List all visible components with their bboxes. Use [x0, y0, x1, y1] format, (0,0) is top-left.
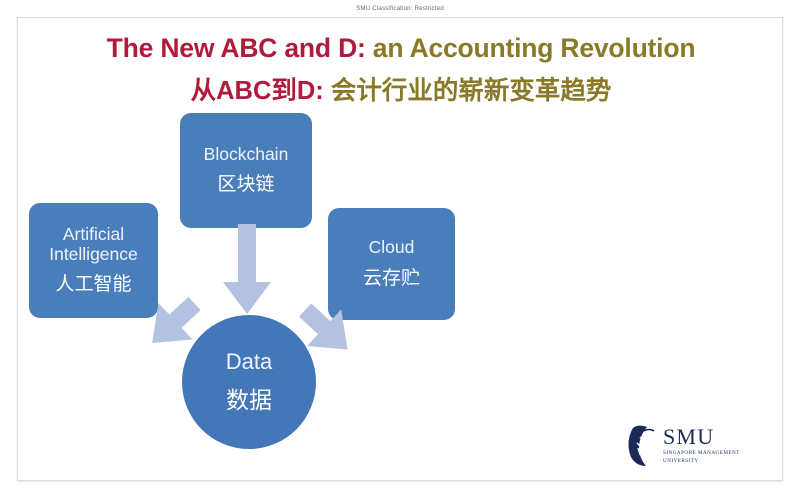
arrow-ai-to-data-icon	[142, 293, 206, 355]
node-cloud-label-en: Cloud	[369, 237, 415, 257]
node-data-label-en: Data	[226, 350, 272, 374]
classification-banner: SMU Classification: Restricted	[0, 0, 800, 16]
node-blockchain-label-en: Blockchain	[204, 144, 289, 164]
slide-title-chinese: 从ABC到D: 会计行业的崭新变革趋势	[18, 70, 783, 107]
slide-title-chinese-red: 从ABC到D:	[191, 77, 324, 105]
slide-frame: The New ABC and D: an Accounting Revolut…	[17, 17, 783, 481]
diagram-node-artificial-intelligence: Artificial Intelligence 人工智能	[29, 203, 158, 318]
smu-initials: SMU	[663, 426, 749, 448]
node-ai-label-zh: 人工智能	[55, 274, 131, 297]
arrow-blockchain-to-data-icon	[219, 224, 275, 319]
node-data-label-zh: 数据	[226, 388, 272, 413]
diagram-node-blockchain: Blockchain 区块链	[180, 113, 312, 228]
node-ai-label-en-line2: Intelligence	[49, 244, 138, 264]
slide-title-english: The New ABC and D: an Accounting Revolut…	[18, 33, 783, 64]
smu-logo: SMU SINGAPORE MANAGEMENT UNIVERSITY	[626, 420, 761, 472]
slide-title-chinese-gold: 会计行业的崭新变革趋势	[324, 77, 612, 105]
smu-logo-wordmark: SMU SINGAPORE MANAGEMENT UNIVERSITY	[663, 426, 749, 466]
node-ai-label-en-line1: Artificial	[63, 224, 124, 244]
slide-title-english-red: The New ABC and D:	[107, 33, 366, 63]
smu-crest-icon	[626, 424, 658, 468]
slide-title-english-gold: an Accounting Revolution	[366, 33, 696, 63]
arrow-cloud-to-data-icon	[295, 298, 359, 360]
node-cloud-label-zh: 云存贮	[363, 268, 420, 291]
node-blockchain-label-zh: 区块链	[217, 174, 274, 197]
smu-full-name: SINGAPORE MANAGEMENT UNIVERSITY	[663, 450, 749, 466]
classification-label: SMU Classification: Restricted	[356, 5, 444, 12]
